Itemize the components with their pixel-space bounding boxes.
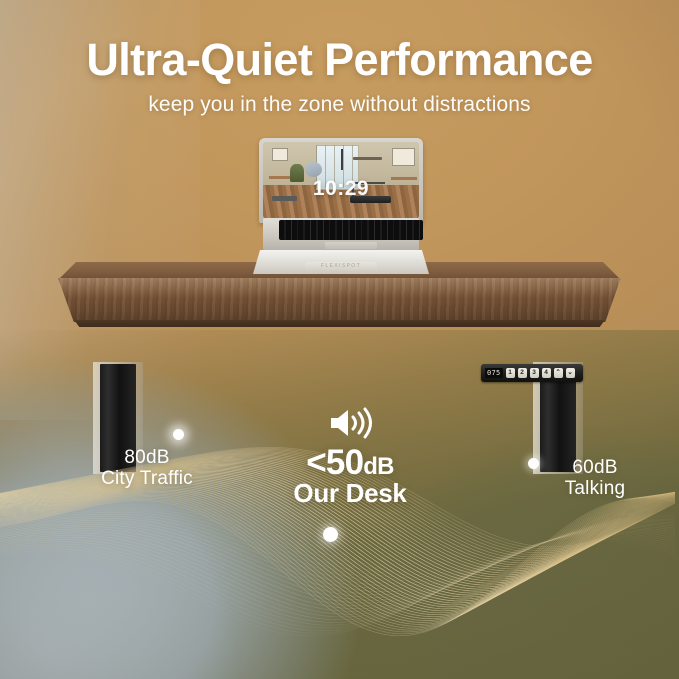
desk-control-panel[interactable]: 075 1 2 3 4 ⌃ ⌄ — [481, 364, 583, 382]
noise-label-our-desk: <50dB Our Desk — [250, 406, 450, 508]
preset-button-3[interactable]: 3 — [530, 368, 539, 378]
chevron-down-icon[interactable]: ⌄ — [566, 368, 575, 378]
laptop-lid: 10:29 — [259, 138, 423, 223]
speaker-waves-icon — [327, 406, 373, 440]
desk-sheen — [58, 278, 621, 298]
laptop-trackpad — [325, 242, 377, 249]
scene-standing-desk — [341, 149, 365, 171]
headline-block: Ultra-Quiet Performance keep you in the … — [0, 36, 679, 117]
laptop: 10:29 FLEXISPOT — [253, 138, 429, 268]
scene-wall-art-1 — [272, 148, 288, 161]
laptop-keyboard — [279, 220, 423, 240]
desk-bottom-edge — [74, 320, 605, 327]
preset-button-4[interactable]: 4 — [542, 368, 551, 378]
noise-label-talking: 60dB Talking — [520, 457, 670, 500]
noise-name-talking: Talking — [520, 478, 670, 499]
screen-clock: 10:29 — [263, 177, 419, 201]
preset-button-1[interactable]: 1 — [506, 368, 515, 378]
marker-dot-city-traffic — [173, 429, 184, 440]
scene-desk-surface — [353, 157, 381, 159]
noise-name-city-traffic: City Traffic — [52, 468, 242, 489]
page-title: Ultra-Quiet Performance — [0, 36, 679, 83]
noise-label-city-traffic: 80dB City Traffic — [52, 447, 242, 490]
laptop-screen: 10:29 — [263, 142, 419, 219]
standing-desk — [0, 262, 679, 372]
chevron-up-icon[interactable]: ⌃ — [554, 368, 563, 378]
laptop-stand-brand: FLEXISPOT — [253, 263, 429, 269]
marker-dot-our-desk — [323, 527, 338, 542]
page-subtitle: keep you in the zone without distraction… — [0, 93, 679, 117]
laptop-keyboard-deck — [263, 218, 419, 252]
noise-db-talking: 60dB — [520, 457, 670, 478]
noise-db-number-our-desk: <50 — [306, 443, 363, 482]
noise-db-city-traffic: 80dB — [52, 447, 242, 468]
noise-db-our-desk: <50dB — [250, 443, 450, 482]
control-panel-display: 075 — [485, 368, 503, 378]
scene-wall-art-2 — [392, 148, 414, 165]
laptop-base: FLEXISPOT — [253, 218, 429, 264]
noise-name-our-desk: Our Desk — [250, 479, 450, 508]
noise-db-unit-our-desk: dB — [363, 453, 393, 480]
promo-image: Ultra-Quiet Performance keep you in the … — [0, 0, 679, 679]
preset-button-2[interactable]: 2 — [518, 368, 527, 378]
